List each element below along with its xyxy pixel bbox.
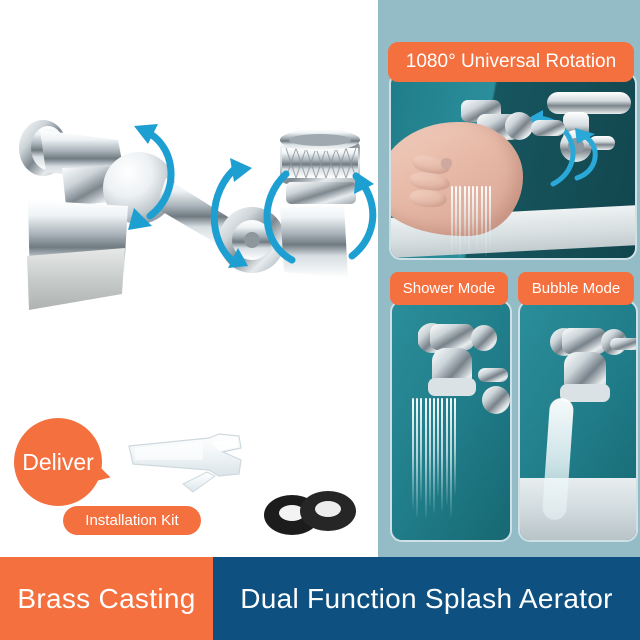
water-spray-shower bbox=[412, 398, 456, 518]
deliver-badge-label: Deliver bbox=[22, 449, 94, 476]
banner-product-name-text: Dual Function Splash Aerator bbox=[240, 583, 613, 615]
installation-kit-label: Installation Kit bbox=[63, 506, 201, 535]
universal-rotation-headline: 1080° Universal Rotation bbox=[388, 42, 634, 82]
product-image-page: Deliver Installation Kit bbox=[0, 0, 640, 640]
fingernail bbox=[441, 158, 453, 168]
bubble-mode-text: Bubble Mode bbox=[532, 280, 620, 297]
photo-bubble-mode bbox=[518, 300, 638, 542]
hero-product-image bbox=[0, 96, 378, 346]
universal-rotation-text: 1080° Universal Rotation bbox=[406, 51, 616, 73]
shower-mode-label: Shower Mode bbox=[390, 272, 508, 305]
bottom-banner: Brass Casting Dual Function Splash Aerat… bbox=[0, 557, 640, 640]
installation-kit-text: Installation Kit bbox=[85, 512, 178, 529]
banner-material-text: Brass Casting bbox=[17, 583, 195, 615]
photo-universal-rotation bbox=[389, 72, 637, 260]
deliver-badge: Deliver bbox=[14, 418, 102, 506]
bubble-mode-label: Bubble Mode bbox=[518, 272, 634, 305]
water-spray bbox=[451, 186, 491, 258]
rubber-washers bbox=[262, 489, 358, 537]
photo-shower-mode bbox=[390, 300, 512, 542]
installation-wrench bbox=[123, 424, 273, 504]
sink-surface bbox=[520, 478, 636, 540]
banner-product-name: Dual Function Splash Aerator bbox=[213, 557, 640, 640]
shower-mode-text: Shower Mode bbox=[403, 280, 496, 297]
banner-material: Brass Casting bbox=[0, 557, 213, 640]
finger bbox=[408, 189, 447, 209]
faucet-aerator-illustration bbox=[0, 96, 378, 346]
